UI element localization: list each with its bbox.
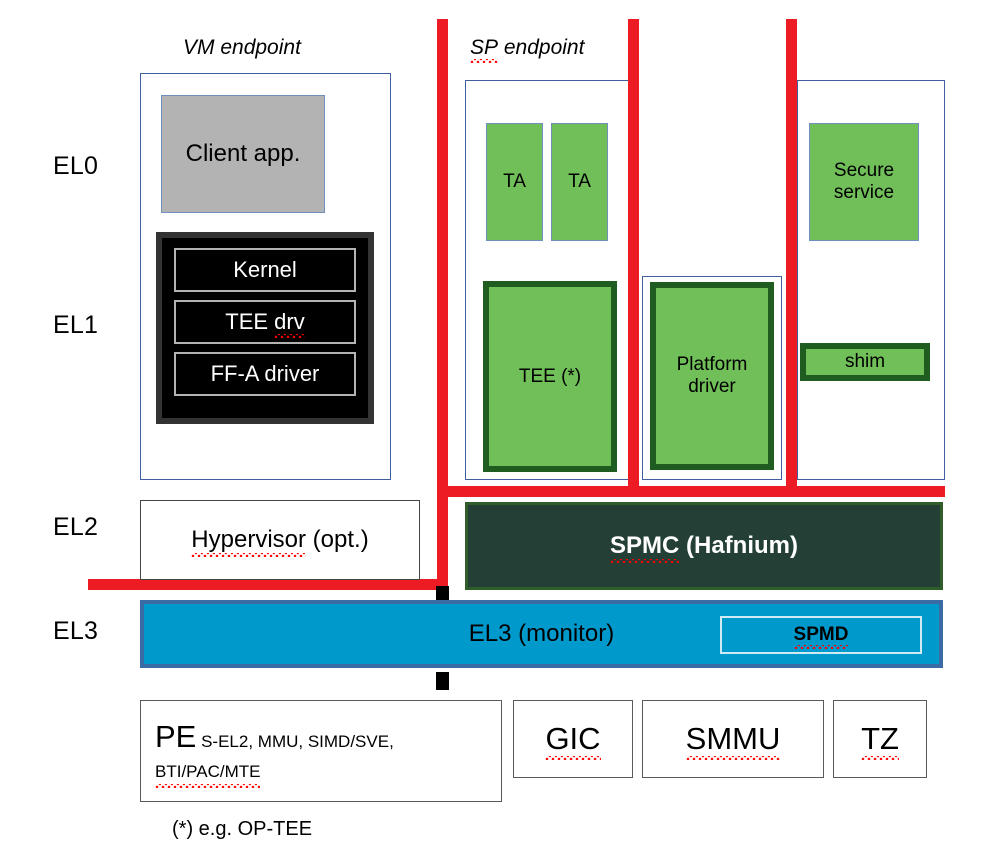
hypervisor-box: Hypervisor (opt.)	[140, 500, 420, 580]
connector-bottom	[436, 672, 449, 690]
sp-endpoint-title: SP endpoint	[470, 36, 584, 60]
sp-endpoint-title-rest: endpoint	[498, 36, 584, 59]
red-bus-horizontal-vm	[88, 579, 448, 590]
spmc-label-misspelled: SPMC	[610, 532, 679, 560]
secure-service-line2: service	[834, 182, 894, 204]
red-bus-vertical-2	[628, 19, 639, 497]
connector-top	[436, 586, 449, 600]
ffa-driver-box: FF-A driver	[174, 352, 356, 396]
hypervisor-label-misspelled: Hypervisor	[191, 526, 306, 554]
trusted-app-box-2: TA	[551, 123, 608, 241]
pe-box: PE S-EL2, MMU, SIMD/SVE, BTI/PAC/MTE	[140, 700, 502, 802]
gic-label: GIC	[545, 721, 600, 757]
platform-driver-box: Platform driver	[650, 282, 774, 470]
spmd-label: SPMD	[794, 624, 849, 646]
sp-endpoint-title-word: SP	[470, 36, 498, 60]
tee-box: TEE (*)	[483, 281, 617, 472]
spmc-box: SPMC (Hafnium)	[465, 502, 943, 590]
level-label-el3: EL3	[53, 617, 98, 646]
red-bus-horizontal-sp	[437, 486, 945, 497]
platform-driver-line2: driver	[688, 376, 736, 398]
pe-text-block: PE S-EL2, MMU, SIMD/SVE, BTI/PAC/MTE	[141, 701, 501, 785]
pe-features-line1: S-EL2, MMU, SIMD/SVE,	[201, 732, 394, 751]
client-app-box: Client app.	[161, 95, 325, 213]
level-label-el1: EL1	[53, 311, 98, 340]
pe-name: PE	[155, 719, 196, 754]
spmd-box: SPMD	[720, 616, 922, 654]
el3-monitor-box: EL3 (monitor) SPMD	[140, 600, 943, 668]
tz-label: TZ	[861, 721, 899, 757]
architecture-diagram: EL0 EL1 EL2 EL3 VM endpoint SP endpoint …	[0, 0, 997, 858]
red-bus-vertical-1	[437, 19, 448, 590]
smmu-label: SMMU	[686, 721, 781, 757]
level-label-el0: EL0	[53, 152, 98, 181]
platform-driver-line1: Platform	[677, 354, 748, 376]
vm-endpoint-title: VM endpoint	[183, 36, 301, 60]
secure-service-line1: Secure	[834, 160, 894, 182]
spmc-label-rest: (Hafnium)	[679, 532, 798, 560]
smmu-box: SMMU	[642, 700, 824, 778]
hypervisor-label-rest: (opt.)	[306, 526, 369, 554]
level-label-el2: EL2	[53, 513, 98, 542]
gic-box: GIC	[513, 700, 633, 778]
tee-driver-label-prefix: TEE	[225, 309, 274, 334]
tz-box: TZ	[833, 700, 927, 778]
red-bus-vertical-3	[786, 19, 797, 497]
tee-driver-label-misspelled: drv	[274, 309, 305, 334]
tee-driver-box: TEE drv	[174, 300, 356, 344]
trusted-app-box-1: TA	[486, 123, 543, 241]
vm-os-stack: Kernel TEE drv FF-A driver	[156, 232, 374, 424]
secure-service-box: Secure service	[809, 123, 919, 241]
kernel-box: Kernel	[174, 248, 356, 292]
pe-features-line2: BTI/PAC/MTE	[155, 760, 260, 785]
shim-box: shim	[800, 343, 930, 381]
footnote-text: (*) e.g. OP-TEE	[172, 818, 312, 841]
